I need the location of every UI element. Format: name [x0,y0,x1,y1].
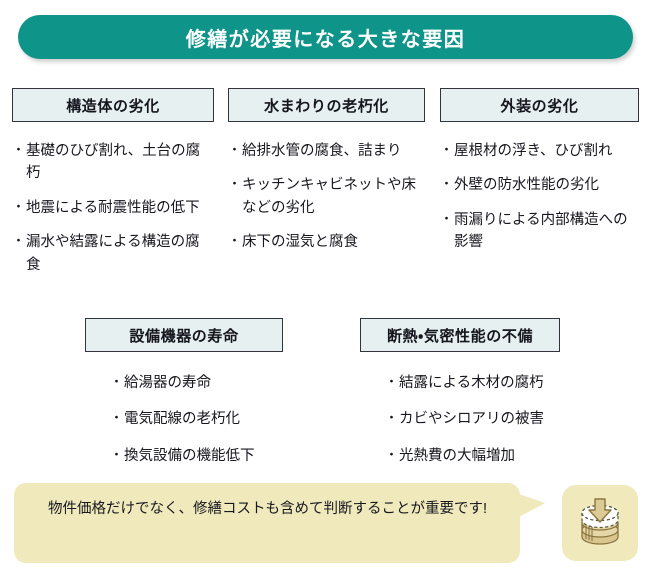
category-item-list-water: ・ 給排水管の腐食、詰まり ・ キッチンキャビネットや床などの劣化 ・ 床下の湿… [228,122,425,254]
category-block-water: 水まわりの老朽化 ・ 給排水管の腐食、詰まり ・ キッチンキャビネットや床などの… [228,88,425,254]
list-item: ・ 換気設備の機能低下 [110,445,283,467]
list-item-text: 光熱費の大幅増加 [399,445,560,467]
page-title-banner: 修繕が必要になる大きな要因 [18,15,633,59]
list-item-text: 換気設備の機能低下 [124,445,283,467]
list-item-text: キッチンキャビネットや床などの劣化 [242,174,425,219]
bullet-marker: ・ [440,140,453,160]
list-item: ・ 基礎のひび割れ、土台の腐朽 [12,140,214,185]
list-item-text: 給排水管の腐食、詰まり [242,140,425,162]
list-item: ・ 地震による耐震性能の低下 [12,197,214,219]
category-header-exterior: 外装の劣化 [440,88,639,122]
callout-text: 物件価格だけでなく、修繕コストも含めて判断することが重要です! [48,497,494,522]
list-item: ・ 屋根材の浮き、ひび割れ [440,140,639,162]
category-item-list-exterior: ・ 屋根材の浮き、ひび割れ ・ 外壁の防水性能の劣化 ・ 雨漏りによる内部構造へ… [440,122,639,254]
list-item: ・ 給排水管の腐食、詰まり [228,140,425,162]
bullet-marker: ・ [110,408,123,428]
list-item-text: 基礎のひび割れ、土台の腐朽 [26,140,214,185]
list-item-text: 床下の湿気と腐食 [242,231,425,253]
bullet-marker: ・ [110,445,123,465]
callout-bubble: 物件価格だけでなく、修繕コストも含めて判断することが重要です! [14,483,520,563]
bullet-marker: ・ [12,197,25,217]
list-item: ・ 光熱費の大幅増加 [385,445,560,467]
list-item: ・ カビやシロアリの被害 [385,408,560,430]
bullet-marker: ・ [440,174,453,194]
list-item-text: 外壁の防水性能の劣化 [454,174,639,196]
bullet-marker: ・ [440,209,453,229]
coin-stack-icon-tile [562,485,638,561]
list-item: ・ 漏水や結露による構造の腐食 [12,231,214,276]
list-item: ・ 外壁の防水性能の劣化 [440,174,639,196]
list-item: ・ キッチンキャビネットや床などの劣化 [228,174,425,219]
list-item: ・ 床下の湿気と腐食 [228,231,425,253]
list-item-text: 漏水や結露による構造の腐食 [26,231,214,276]
list-item-text: 屋根材の浮き、ひび割れ [454,140,639,162]
bullet-marker: ・ [12,231,25,251]
callout-bubble-tail [519,494,545,517]
bullet-marker: ・ [385,445,398,465]
list-item: ・ 電気配線の老朽化 [110,408,283,430]
category-title: 水まわりの老朽化 [264,95,389,116]
bullet-marker: ・ [385,372,398,392]
coin-stack-down-arrow-icon [575,493,625,554]
category-title: 断熱・気密性能の不備 [387,325,533,346]
category-block-insulation: 断熱・気密性能の不備 ・ 結露による木材の腐朽 ・ カビやシロアリの被害 ・ 光… [360,318,560,467]
list-item: ・ 雨漏りによる内部構造への影響 [440,209,639,254]
list-item-text: 給湯器の寿命 [124,372,283,394]
category-header-insulation: 断熱・気密性能の不備 [360,318,560,352]
category-block-equipment: 設備機器の寿命 ・ 給湯器の寿命 ・ 電気配線の老朽化 ・ 換気設備の機能低下 [85,318,283,467]
list-item-text: 結露による木材の腐朽 [399,372,560,394]
bullet-marker: ・ [385,408,398,428]
list-item: ・ 結露による木材の腐朽 [385,372,560,394]
category-block-structure: 構造体の劣化 ・ 基礎のひび割れ、土台の腐朽 ・ 地震による耐震性能の低下 ・ … [12,88,214,276]
bullet-marker: ・ [12,140,25,160]
bullet-marker: ・ [110,372,123,392]
bullet-marker: ・ [228,231,241,251]
list-item-text: カビやシロアリの被害 [399,408,560,430]
list-item-text: 電気配線の老朽化 [124,408,283,430]
bullet-marker: ・ [228,140,241,160]
category-header-structure: 構造体の劣化 [12,88,214,122]
list-item-text: 雨漏りによる内部構造への影響 [454,209,639,254]
category-header-equipment: 設備機器の寿命 [85,318,283,352]
category-item-list-structure: ・ 基礎のひび割れ、土台の腐朽 ・ 地震による耐震性能の低下 ・ 漏水や結露によ… [12,122,214,276]
category-title: 構造体の劣化 [66,95,160,116]
bullet-marker: ・ [228,174,241,194]
category-item-list-equipment: ・ 給湯器の寿命 ・ 電気配線の老朽化 ・ 換気設備の機能低下 [85,352,283,467]
list-item: ・ 給湯器の寿命 [110,372,283,394]
category-header-water: 水まわりの老朽化 [228,88,425,122]
category-block-exterior: 外装の劣化 ・ 屋根材の浮き、ひび割れ ・ 外壁の防水性能の劣化 ・ 雨漏りによ… [440,88,639,254]
list-item-text: 地震による耐震性能の低下 [26,197,214,219]
category-title: 外装の劣化 [500,95,578,116]
category-item-list-insulation: ・ 結露による木材の腐朽 ・ カビやシロアリの被害 ・ 光熱費の大幅増加 [360,352,560,467]
page-title: 修繕が必要になる大きな要因 [186,23,466,52]
category-title: 設備機器の寿命 [129,325,238,346]
